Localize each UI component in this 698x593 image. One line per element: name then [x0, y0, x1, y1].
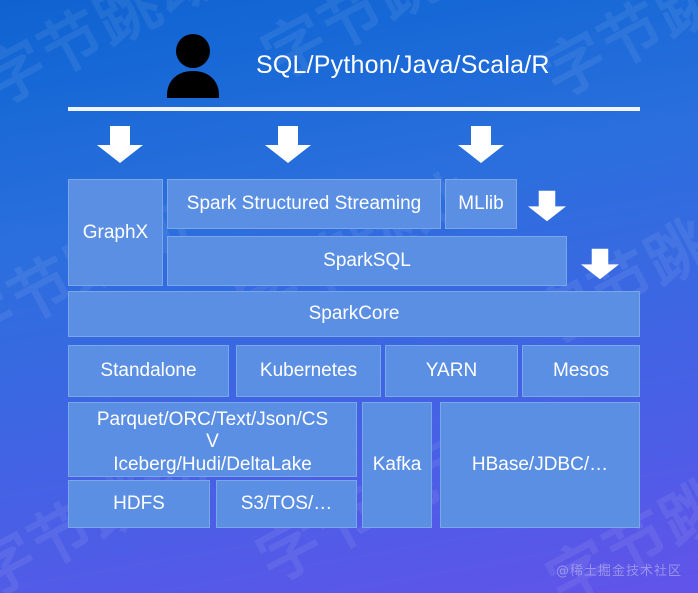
page-title: SQL/Python/Java/Scala/R	[256, 51, 550, 80]
box-cluster-mesos[interactable]: Mesos	[522, 345, 640, 397]
user-person-icon	[162, 32, 224, 98]
box-graphx[interactable]: GraphX	[68, 179, 163, 286]
arrow-down-3	[458, 126, 504, 163]
box-sparkcore[interactable]: SparkCore	[68, 291, 640, 337]
storage-formats-line-3: Iceberg/Hudi/DeltaLake	[73, 454, 352, 476]
storage-formats-line-2: V	[73, 431, 352, 453]
box-storage-object-store[interactable]: S3/TOS/…	[216, 480, 357, 528]
box-cluster-yarn[interactable]: YARN	[385, 345, 518, 397]
box-sparksql[interactable]: SparkSQL	[167, 236, 567, 286]
storage-formats-line-1: Parquet/ORC/Text/Json/CS	[73, 409, 352, 431]
arrow-down-mllib	[528, 190, 566, 222]
box-storage-hdfs[interactable]: HDFS	[68, 480, 210, 528]
header-divider	[68, 107, 640, 111]
corner-watermark: @稀土掘金技术社区	[556, 560, 682, 579]
header: SQL/Python/Java/Scala/R	[68, 28, 640, 102]
box-storage-formats[interactable]: Parquet/ORC/Text/Json/CS V Iceberg/Hudi/…	[68, 402, 357, 477]
box-mllib[interactable]: MLlib	[445, 179, 517, 229]
box-storage-external[interactable]: HBase/JDBC/…	[440, 402, 640, 528]
arrow-down-2	[265, 126, 311, 163]
arrow-down-sparksql	[581, 248, 619, 280]
diagram-canvas: 字节跳动 字节跳动 字节跳动 字节跳动 字节跳动 字节跳动 字节跳动 字节跳动 …	[0, 0, 698, 593]
box-cluster-standalone[interactable]: Standalone	[68, 345, 229, 397]
arrow-down-1	[97, 126, 143, 163]
box-spark-structured-streaming[interactable]: Spark Structured Streaming	[167, 179, 441, 229]
box-storage-kafka[interactable]: Kafka	[362, 402, 432, 528]
box-cluster-kubernetes[interactable]: Kubernetes	[236, 345, 381, 397]
